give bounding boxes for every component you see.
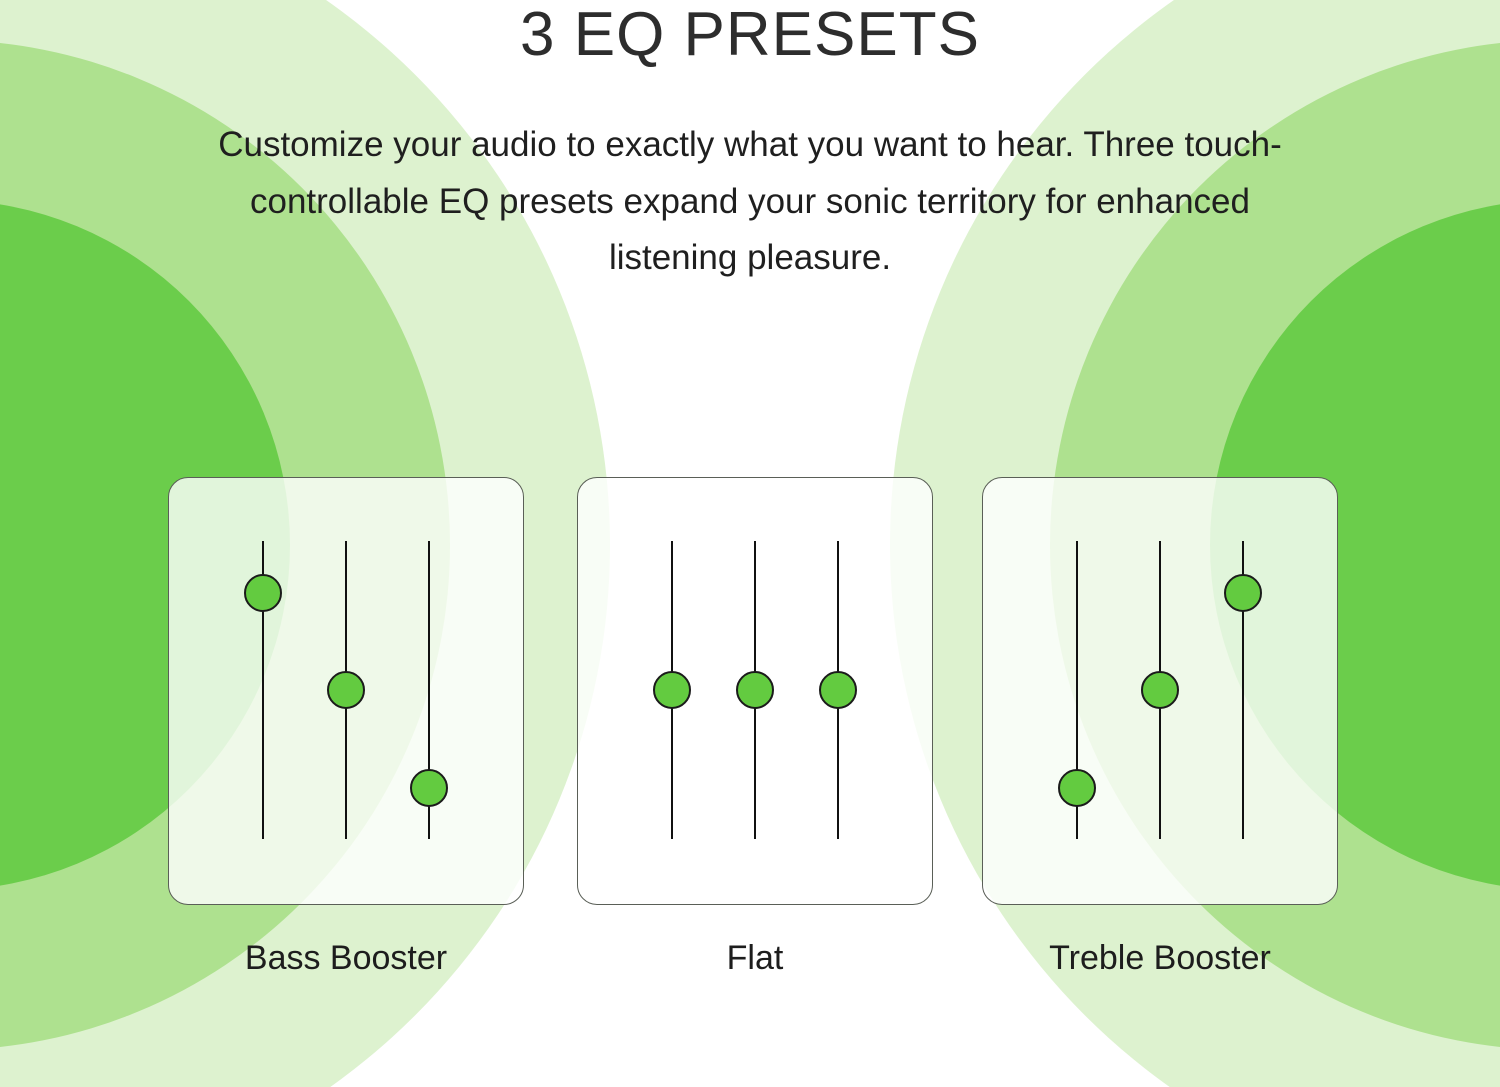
eq-slider-low[interactable] <box>652 541 692 839</box>
eq-slider-high[interactable] <box>409 541 449 839</box>
page-subtitle: Customize your audio to exactly what you… <box>190 67 1310 287</box>
page-title: 3 EQ PRESETS <box>0 0 1500 67</box>
eq-slider-knob[interactable] <box>653 671 691 709</box>
preset-label: Treble Booster <box>982 939 1338 978</box>
preset-card[interactable] <box>982 477 1338 905</box>
eq-slider-knob[interactable] <box>327 671 365 709</box>
eq-slider-knob[interactable] <box>1141 671 1179 709</box>
preset-bass-booster[interactable]: Bass Booster <box>168 477 524 905</box>
eq-slider-knob[interactable] <box>736 671 774 709</box>
eq-slider-knob[interactable] <box>1058 769 1096 807</box>
eq-slider-mid[interactable] <box>1140 541 1180 839</box>
eq-slider-low[interactable] <box>1057 541 1097 839</box>
eq-slider-high[interactable] <box>818 541 858 839</box>
eq-slider-mid[interactable] <box>326 541 366 839</box>
header: 3 EQ PRESETS Customize your audio to exa… <box>0 0 1500 287</box>
preset-card[interactable] <box>168 477 524 905</box>
preset-treble-booster[interactable]: Treble Booster <box>982 477 1338 905</box>
eq-slider-mid[interactable] <box>735 541 775 839</box>
eq-slider-high[interactable] <box>1223 541 1263 839</box>
preset-label: Bass Booster <box>168 939 524 978</box>
preset-list: Bass BoosterFlatTreble Booster <box>0 477 1500 1037</box>
eq-presets-panel: 3 EQ PRESETS Customize your audio to exa… <box>0 0 1500 1087</box>
preset-flat[interactable]: Flat <box>577 477 933 905</box>
eq-slider-knob[interactable] <box>819 671 857 709</box>
eq-slider-knob[interactable] <box>1224 574 1262 612</box>
eq-slider-low[interactable] <box>243 541 283 839</box>
eq-slider-knob[interactable] <box>410 769 448 807</box>
eq-slider-knob[interactable] <box>244 574 282 612</box>
preset-card[interactable] <box>577 477 933 905</box>
preset-label: Flat <box>577 939 933 978</box>
